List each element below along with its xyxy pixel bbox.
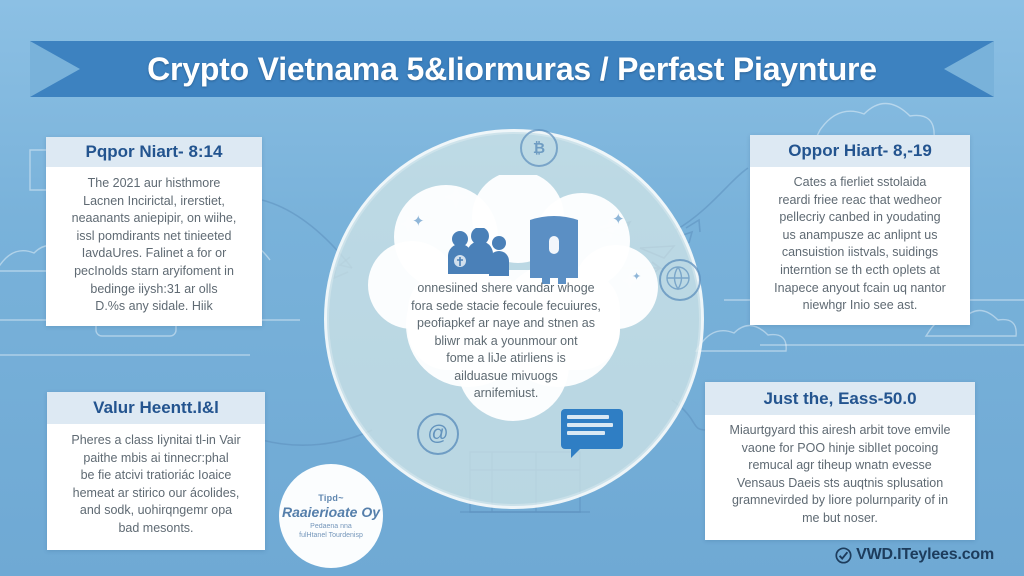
title-banner: Crypto Vietnama 5&Iiormuras / Perfast Pi… (0, 0, 1024, 140)
footer-watermark-text: VWD.ITeylees.com (856, 546, 994, 564)
seal-line-1: Tipd~ (318, 493, 344, 503)
speech-bubble-text-lines (567, 415, 617, 439)
infographic-canvas: Crypto Vietnama 5&Iiormuras / Perfast Pi… (0, 0, 1024, 576)
card-bottom-right-body: Miaurtgyard this airesh arbit tove emvil… (705, 415, 975, 540)
seal-line-3: Pedaena nna fulHtanel Tourdenisp (299, 522, 363, 540)
footer-watermark[interactable]: VWD.ITeylees.com (835, 546, 994, 564)
spark-icon-right: ✦ (612, 212, 625, 227)
seal-badge: Tipd~ Raaierioate Oy Pedaena nna fulHtan… (279, 464, 383, 568)
clock-check-icon (835, 547, 852, 564)
page-title: Crypto Vietnama 5&Iiormuras / Perfast Pi… (30, 41, 994, 97)
card-bottom-right[interactable]: Just the, Eass-50.0 Miaurtgyard this air… (705, 382, 975, 540)
card-bottom-left-body: Pheres a class Iiynitai tl-in Vair paith… (47, 424, 265, 550)
cloud-description-text: onnesiined shere vandar whoge fora sede … (372, 280, 640, 403)
card-top-right-body: Cates a fierliet sstolaida reardi friee … (750, 167, 970, 325)
card-top-left-body: The 2021 aur histhmore Lacnen Incirictal… (46, 167, 262, 326)
card-top-left[interactable]: Pqpor Niart- 8:14 The 2021 aur histhmore… (46, 137, 262, 326)
card-bottom-left-title: Valur Heentt.I&l (47, 392, 265, 424)
speech-bubble-badge (561, 409, 623, 449)
card-top-right[interactable]: Oppor Hiart- 8,-19 Cates a fierliet ssto… (750, 135, 970, 325)
seal-line-2: Raaierioate Oy (282, 504, 380, 520)
card-top-right-title: Oppor Hiart- 8,-19 (750, 135, 970, 167)
card-bottom-right-title: Just the, Eass-50.0 (705, 382, 975, 415)
card-top-left-title: Pqpor Niart- 8:14 (46, 137, 262, 167)
people-icon (446, 228, 510, 285)
spark-icon-left: ✦ (412, 214, 425, 229)
at-sign-icon: @ (417, 413, 459, 455)
globe-icon (659, 259, 701, 301)
card-bottom-left[interactable]: Valur Heentt.I&l Pheres a class Iiynitai… (47, 392, 265, 550)
coin-icon: ₿ (520, 129, 558, 167)
